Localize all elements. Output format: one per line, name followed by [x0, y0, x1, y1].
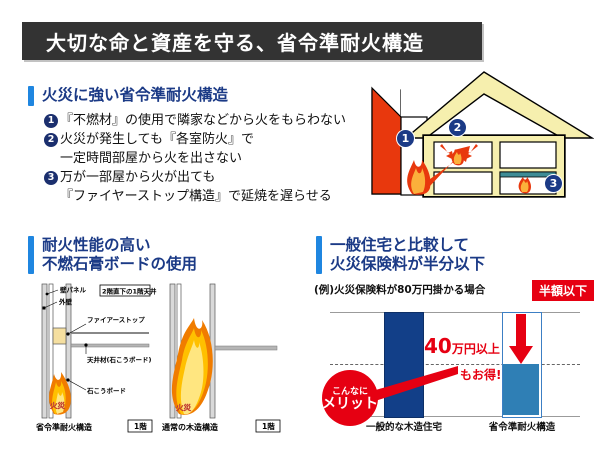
savings-sub-text: もお得! [460, 366, 501, 383]
label-name-left: 省令準耐火構造 [35, 422, 92, 432]
bullet-text-2: 火災が発生しても『各室防火』で [60, 131, 254, 149]
infographic-root: 大切な命と資産を守る、省令準耐火構造 火災に強い省令準耐火構造 1 『不燃材』の… [0, 0, 600, 450]
wall-section-diagrams: 壁パネル 外壁 ファイアーストップ 天井材(石こうボード) 石こうボード 火災 … [24, 282, 304, 442]
section2-title: 耐火性能の高い 不燃石膏ボードの使用 [42, 236, 197, 274]
heading-accent-bar-3 [316, 236, 322, 274]
label-outer-wall-text: 外壁 [58, 297, 73, 306]
wall-diagram-svg: 壁パネル 外壁 ファイアーストップ 天井材(石こうボード) 石こうボード 火災 … [24, 282, 304, 442]
label-fire-left: 火災 [50, 401, 65, 410]
label-floor-right-text: 1階 [262, 421, 275, 431]
chart-example-text: (例)火災保険料が80万円掛かる場合 [314, 282, 485, 297]
house-illustration: 1 2 3 [366, 64, 594, 226]
dot-ceiling-mat [84, 343, 87, 346]
label-fire-stop-text: ファイアーストップ [87, 315, 145, 324]
savings-unit: 万円以上 [452, 342, 500, 356]
bullet-number-3: 3 [44, 171, 58, 185]
label-fire-right: 火災 [176, 403, 191, 412]
down-arrow-icon [508, 314, 534, 366]
house-roof [406, 72, 592, 138]
room-lower-left [434, 172, 492, 194]
house-badge-1: 1 [396, 129, 415, 148]
list-item: 1 『不燃材』の使用で隣家などから火をもらわない [44, 112, 364, 130]
half-price-badge: 半額以下 [532, 280, 594, 301]
dot-gypsum [66, 378, 69, 381]
bullet-text-1: 『不燃材』の使用で隣家などから火をもらわない [60, 112, 346, 130]
heading-accent-bar [28, 86, 34, 106]
bar-label-general-wooden: 一般的な木造住宅 [358, 419, 450, 433]
bullet-number-1: 1 [44, 114, 58, 128]
dot-outer-wall [43, 307, 46, 310]
label-wall-panel-text: 壁パネル [59, 285, 87, 294]
fire-resistance-points: 1 『不燃材』の使用で隣家などから火をもらわない 2 火災が発生しても『各室防火… [44, 112, 364, 207]
page-title: 大切な命と資産を守る、省令準耐火構造 [22, 27, 424, 56]
label-ceiling-material-text: 天井材(石こうボード) [87, 355, 151, 364]
right-ceiling-board [215, 346, 277, 350]
insurance-comparison-chart: (例)火災保険料が80万円掛かる場合 半額以下 40万円以上 もお得! こんなに… [312, 282, 596, 444]
label-floor-left-text: 1階 [134, 421, 147, 431]
section-heading-insurance: 一般住宅と比較して 火災保険料が半分以下 [316, 236, 485, 274]
bullet-number-2: 2 [44, 133, 58, 147]
room-upper-right [500, 142, 556, 168]
bullet-text-3-cont: 『ファイヤーストップ構造』で延焼を遅らせる [44, 188, 364, 206]
left-ceiling-line-upper [71, 332, 149, 334]
left-fire-stop-block [53, 328, 66, 344]
bullet-text-3: 万が一部屋から火が出ても [60, 169, 215, 187]
merit-callout-badge: こんなに メリット [322, 370, 378, 426]
label-name-right: 通常の木造構造 [162, 422, 218, 432]
left-ceiling-board [71, 344, 149, 347]
page-title-banner: 大切な命と資産を守る、省令準耐火構造 [22, 22, 482, 60]
dot-wall-panel [46, 293, 49, 296]
bar-label-shoureijun: 省令準耐火構造 [476, 419, 568, 433]
savings-number: 40 [424, 334, 452, 358]
left-outer-wall [42, 284, 47, 418]
label-ceiling-box-text: 2階直下の1階天井 [102, 287, 157, 296]
section3-title: 一般住宅と比較して 火災保険料が半分以下 [330, 236, 485, 274]
chart-gridline-top [330, 312, 580, 313]
house-badge-3: 3 [544, 174, 563, 193]
dot-fire-stop [66, 332, 69, 335]
savings-amount: 40万円以上 [424, 334, 500, 358]
list-item: 2 火災が発生しても『各室防火』で [44, 131, 364, 149]
list-item: 3 万が一部屋から火が出ても [44, 169, 364, 187]
section-heading-gypsum: 耐火性能の高い 不燃石膏ボードの使用 [28, 236, 197, 274]
house-badge-2: 2 [448, 118, 467, 137]
label-gypsum-board-text: 石こうボード [86, 386, 126, 395]
heading-accent-bar-2 [28, 236, 34, 274]
section-heading-fire-resistance: 火災に強い省令準耐火構造 [28, 86, 228, 106]
section1-title: 火災に強い省令準耐火構造 [42, 86, 228, 105]
merit-line-2: メリット [322, 398, 378, 410]
bullet-text-2-cont: 一定時間部屋から火を出さない [44, 150, 364, 168]
bar-fill-shoureijun [503, 364, 539, 415]
